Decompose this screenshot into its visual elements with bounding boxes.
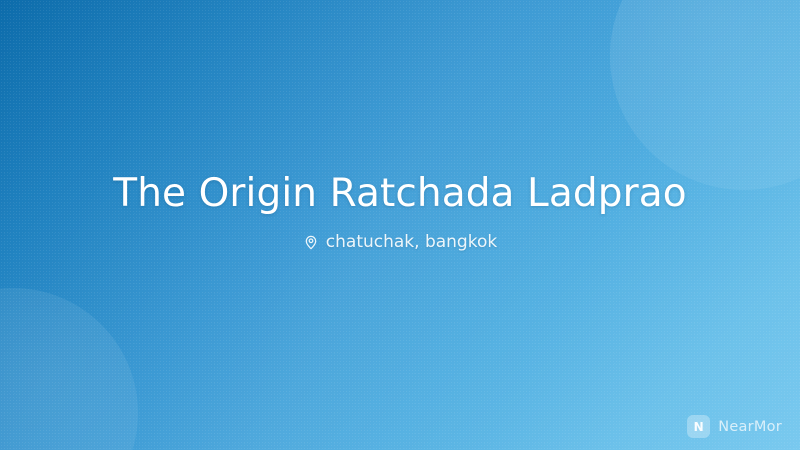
property-hero-banner: The Origin Ratchada Ladprao chatuchak, b… (0, 0, 800, 450)
hero-content: The Origin Ratchada Ladprao chatuchak, b… (0, 172, 800, 252)
brand-logo-badge: N (687, 415, 710, 438)
decorative-circle-bottom-left (0, 288, 138, 450)
decorative-circle-top-right (610, 0, 800, 190)
property-location: chatuchak, bangkok (303, 232, 497, 252)
map-pin-icon (303, 234, 319, 250)
property-location-label: chatuchak, bangkok (326, 232, 497, 252)
brand-watermark: N NearMor (687, 415, 782, 438)
brand-name-label: NearMor (718, 419, 782, 435)
property-title: The Origin Ratchada Ladprao (113, 172, 686, 216)
